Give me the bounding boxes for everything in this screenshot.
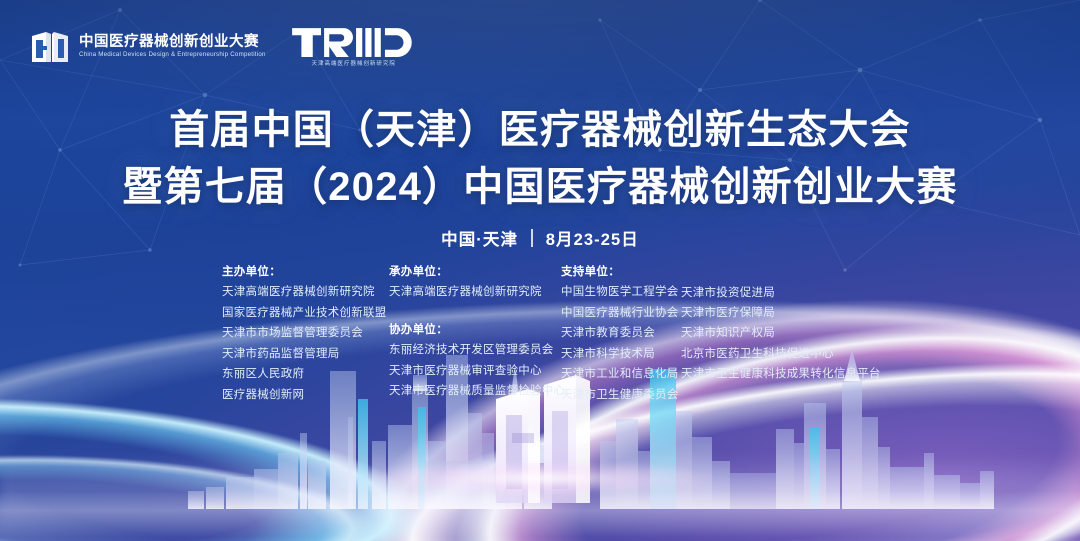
organizer-item: 天津市卫生健康科技成果转化信息平台 — [681, 364, 881, 384]
event-meta: 中国·天津 8月23-25日 — [0, 226, 1080, 250]
event-location: 中国·天津 — [441, 226, 518, 250]
open-book-door-logo-icon — [30, 27, 70, 67]
center-flare — [300, 455, 780, 501]
organizer-item: 天津市医疗器械审评查验中心 — [389, 361, 561, 381]
organizer-item: 医疗器械创新网 — [222, 385, 389, 405]
organizer-group-heading: 主办单位： — [222, 262, 389, 282]
title-line-2: 暨第七届（2024）中国医疗器械创新创业大赛 — [0, 159, 1080, 216]
organizer-item: 天津市教育委员会 — [561, 323, 681, 343]
organizer-item: 天津市医疗器械质量监督检验中心 — [389, 381, 561, 401]
organizer-group-heading: 协办单位： — [389, 320, 561, 340]
institute-logo: 天津高端医疗器械创新研究院 — [292, 26, 416, 68]
organizer-item: 天津市投资促进局 — [681, 283, 881, 303]
organizer-group: 协办单位： 东丽经济技术开发区管理委员会 天津市医疗器械审评查验中心 天津市医疗… — [389, 320, 561, 402]
title-line-1: 首届中国（天津）医疗器械创新生态大会 — [0, 102, 1080, 159]
organizer-item: 天津市工业和信息化局 — [561, 364, 681, 384]
competition-logo: 中国医疗器械创新创业大赛 China Medical Devices Desig… — [30, 27, 266, 67]
organizer-group: 承办单位： 天津高端医疗器械创新研究院 — [389, 262, 561, 303]
organizer-group: 支持单位： 中国生物医学工程学会 中国医疗器械行业协会 天津市教育委员会 天津市… — [561, 262, 681, 405]
organizer-item: 中国生物医学工程学会 — [561, 282, 681, 302]
header-logos: 中国医疗器械创新创业大赛 China Medical Devices Desig… — [30, 26, 416, 68]
organizer-item: 东丽区人民政府 — [222, 364, 389, 384]
organizer-item: 中国医疗器械行业协会 — [561, 303, 681, 323]
organizer-column-4: 天津市投资促进局 天津市医疗保障局 天津市知识产权局 北京市医药卫生科技促进中心… — [681, 262, 881, 405]
organizer-item: 天津高端医疗器械创新研究院 — [389, 282, 561, 302]
page-title: 首届中国（天津）医疗器械创新生态大会 暨第七届（2024）中国医疗器械创新创业大… — [0, 102, 1080, 216]
organizer-item: 天津市科学技术局 — [561, 344, 681, 364]
event-date: 8月23-25日 — [546, 226, 639, 250]
triid-wordmark-icon — [292, 26, 416, 59]
organizer-item: 天津市市场监督管理委员会 — [222, 323, 389, 343]
organizer-column-1: 主办单位： 天津高端医疗器械创新研究院 国家医疗器械产业技术创新联盟 天津市市场… — [222, 262, 389, 405]
competition-logo-cn: 中国医疗器械创新创业大赛 — [79, 35, 266, 50]
organizer-item: 国家医疗器械产业技术创新联盟 — [222, 303, 389, 323]
organizer-item: 北京市医药卫生科技促进中心 — [681, 344, 881, 364]
competition-logo-en: China Medical Devices Design & Entrepren… — [79, 52, 266, 59]
organizer-item: 天津市药品监督管理局 — [222, 344, 389, 364]
organizer-item: 天津高端医疗器械创新研究院 — [222, 282, 389, 302]
organizer-group-heading: 支持单位： — [561, 262, 681, 282]
organizer-item: 天津市知识产权局 — [681, 323, 881, 343]
meta-divider — [531, 229, 533, 247]
conference-poster: 中国医疗器械创新创业大赛 China Medical Devices Desig… — [0, 0, 1080, 541]
organizer-columns: 主办单位： 天津高端医疗器械创新研究院 国家医疗器械产业技术创新联盟 天津市市场… — [222, 262, 881, 405]
organizer-column-4-spacer — [681, 262, 881, 283]
organizer-group: 天津市投资促进局 天津市医疗保障局 天津市知识产权局 北京市医药卫生科技促进中心… — [681, 262, 881, 385]
organizer-column-2: 承办单位： 天津高端医疗器械创新研究院 协办单位： 东丽经济技术开发区管理委员会… — [389, 262, 561, 405]
organizer-item: 天津市医疗保障局 — [681, 303, 881, 323]
organizer-column-3: 支持单位： 中国生物医学工程学会 中国医疗器械行业协会 天津市教育委员会 天津市… — [561, 262, 681, 405]
organizer-item: 东丽经济技术开发区管理委员会 — [389, 340, 561, 360]
organizer-group-heading: 承办单位： — [389, 262, 561, 282]
organizer-group: 主办单位： 天津高端医疗器械创新研究院 国家医疗器械产业技术创新联盟 天津市市场… — [222, 262, 389, 405]
institute-logo-cn: 天津高端医疗器械创新研究院 — [311, 62, 395, 68]
organizer-item: 天津市卫生健康委员会 — [561, 385, 681, 405]
